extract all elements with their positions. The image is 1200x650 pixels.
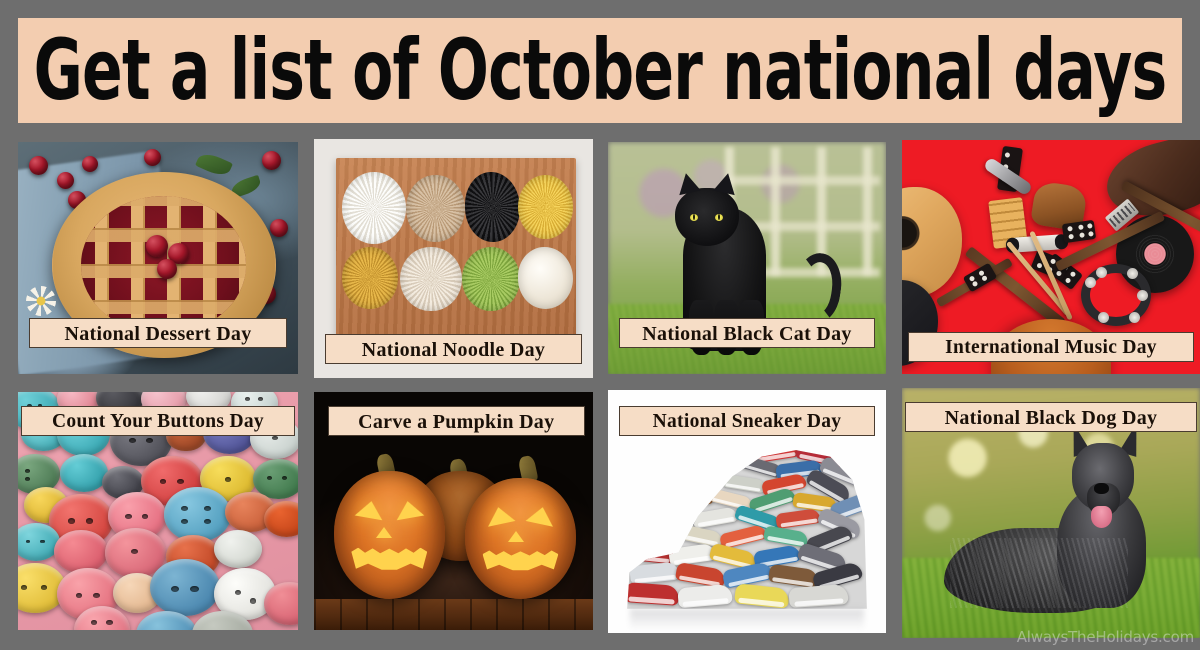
card-label: Carve a Pumpkin Day (328, 406, 585, 436)
card-label: National Black Cat Day (619, 318, 875, 348)
card-count-your-buttons-day[interactable]: Count Your Buttons Day (18, 392, 298, 630)
header-banner: Get a list of October national days (18, 18, 1182, 123)
card-label: National Noodle Day (325, 334, 582, 364)
card-national-black-dog-day[interactable]: National Black Dog Day (902, 388, 1200, 638)
card-national-noodle-day[interactable]: National Noodle Day (314, 139, 593, 378)
card-international-music-day[interactable]: International Music Day (902, 140, 1200, 374)
card-national-dessert-day[interactable]: National Dessert Day (18, 142, 298, 374)
card-national-sneaker-day[interactable]: National Sneaker Day (608, 390, 886, 633)
card-label: Count Your Buttons Day (21, 406, 295, 436)
card-label: National Sneaker Day (619, 406, 875, 436)
card-carve-a-pumpkin-day[interactable]: Carve a Pumpkin Day (314, 392, 593, 630)
card-national-black-cat-day[interactable]: National Black Cat Day (608, 142, 886, 374)
card-label: National Black Dog Day (905, 402, 1197, 432)
site-watermark: AlwaysTheHolidays.com (1017, 628, 1194, 646)
card-label: National Dessert Day (29, 318, 287, 348)
card-label: International Music Day (908, 332, 1194, 362)
page-title: Get a list of October national days (34, 29, 1167, 113)
